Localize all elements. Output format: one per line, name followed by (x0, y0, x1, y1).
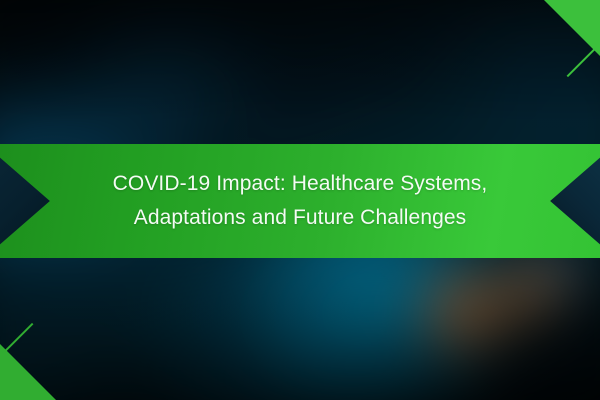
title-band: COVID-19 Impact: Healthcare Systems, Ada… (0, 144, 600, 258)
title-card: COVID-19 Impact: Healthcare Systems, Ada… (0, 0, 600, 400)
page-title: COVID-19 Impact: Healthcare Systems, Ada… (85, 167, 515, 235)
band-arrow-notch-left-icon (0, 144, 58, 258)
band-arrow-notch-right-icon (542, 144, 600, 258)
page-title-line-1: COVID-19 Impact: Healthcare Systems, (85, 167, 515, 201)
page-title-line-2: Adaptations and Future Challenges (85, 201, 515, 235)
